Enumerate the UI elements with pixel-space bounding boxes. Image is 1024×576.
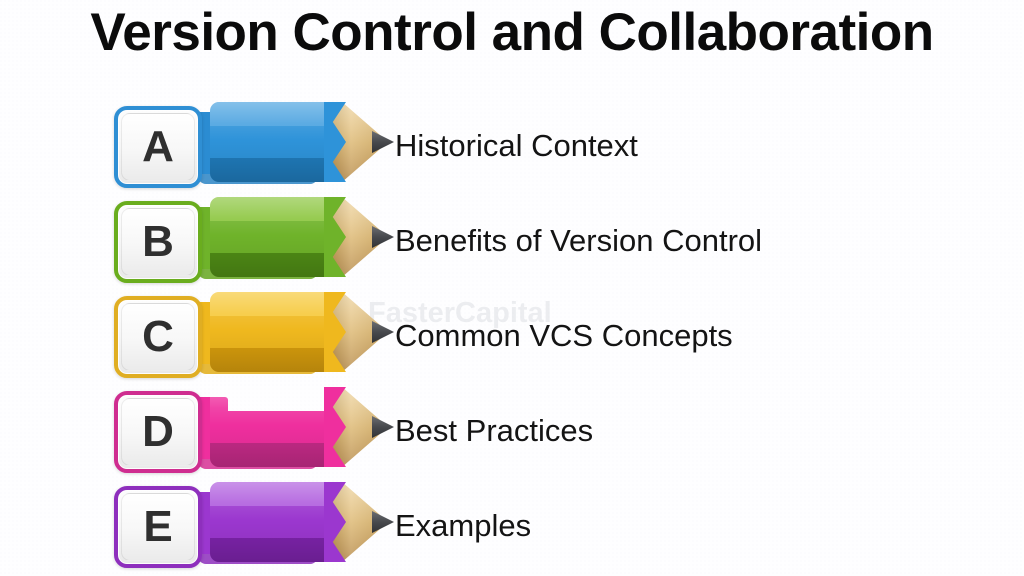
pencil-barrel-d [210, 387, 335, 467]
list-item-d[interactable]: D Best Practices [110, 383, 1020, 479]
list-item-b[interactable]: B Benefits of Version Control [110, 193, 1020, 289]
pencil-list: A Historical Context [0, 0, 1024, 576]
list-item-label-e: Examples [395, 478, 531, 574]
pencil-gloss-a [210, 102, 335, 182]
list-item-c[interactable]: C Common VCS Concepts [110, 288, 1020, 384]
letter-badge-text-b: B [142, 220, 174, 264]
letter-badge-a[interactable]: A [114, 106, 202, 188]
letter-badge-e[interactable]: E [114, 486, 202, 568]
list-item-label-c: Common VCS Concepts [395, 288, 733, 384]
page-title: Version Control and Collaboration [0, 2, 1024, 64]
list-item-label-a: Historical Context [395, 98, 638, 194]
pencil-lead-d [372, 416, 394, 438]
letter-badge-text-e: E [143, 505, 172, 549]
pencil-gloss-c [210, 292, 335, 372]
pencil-lead-b [372, 226, 394, 248]
letter-badge-text-c: C [142, 315, 174, 359]
letter-badge-c[interactable]: C [114, 296, 202, 378]
letter-badge-text-a: A [142, 125, 174, 169]
list-item-e[interactable]: E Examples [110, 478, 1020, 574]
list-item-a[interactable]: A Historical Context [110, 98, 1020, 194]
slide-canvas: Version Control and Collaboration Faster… [0, 0, 1024, 576]
letter-badge-d[interactable]: D [114, 391, 202, 473]
pencil-barrel-c [210, 292, 335, 372]
pencil-barrel-b [210, 197, 335, 277]
pencil-lead-a [372, 131, 394, 153]
pencil-barrel-e [210, 482, 335, 562]
pencil-lead-c [372, 321, 394, 343]
pencil-gloss-b [210, 197, 335, 277]
pencil-barrel-a [210, 102, 335, 182]
list-item-label-d: Best Practices [395, 383, 593, 479]
list-item-label-b: Benefits of Version Control [395, 193, 762, 289]
letter-badge-text-d: D [142, 410, 174, 454]
letter-badge-b[interactable]: B [114, 201, 202, 283]
pencil-gloss-e [210, 482, 335, 562]
pencil-lead-e [372, 511, 394, 533]
pencil-gloss-d [210, 387, 335, 467]
